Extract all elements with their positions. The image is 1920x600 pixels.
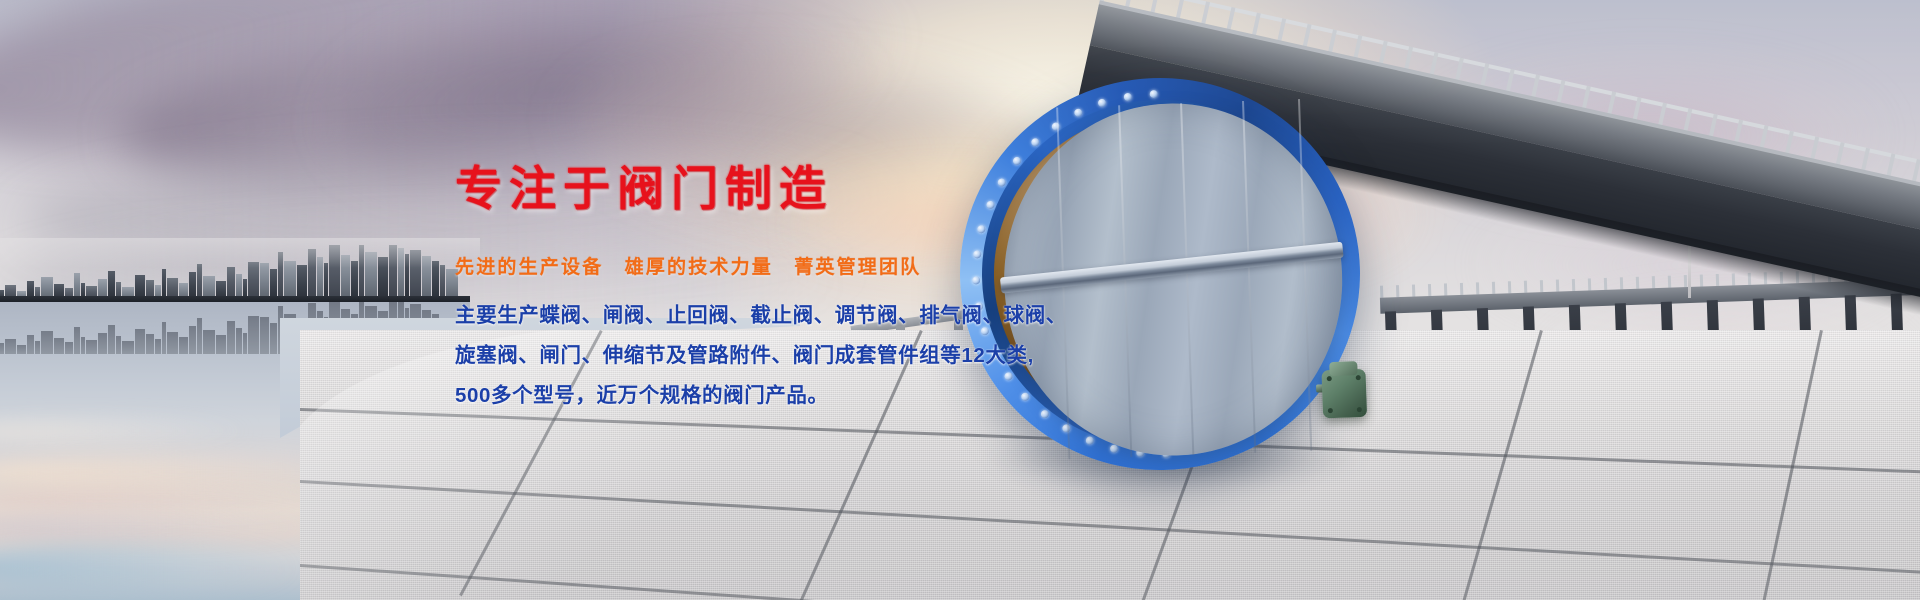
skyline-building — [329, 245, 340, 300]
flange-bolt-hole — [1074, 109, 1082, 117]
skyline-building — [308, 249, 316, 300]
skyline-building — [324, 263, 328, 300]
skyline-building — [440, 265, 445, 300]
skyline-building — [197, 264, 202, 300]
valve-gearbox-actuator — [1315, 361, 1375, 427]
banner-description: 主要生产蝶阀、闸阀、止回阀、截止阀、调节阀、排气阀、球阀、旋塞阀、闸门、伸缩节及… — [455, 296, 1015, 416]
description-line: 500多个型号，近万个规格的阀门产品。 — [455, 376, 1015, 416]
skyline-building — [378, 257, 388, 300]
skyline-building — [405, 254, 409, 300]
skyline-building — [365, 252, 377, 300]
skyline-building — [317, 257, 323, 300]
skyline-building — [389, 245, 397, 300]
description-line: 旋塞阀、闸门、伸缩节及管路附件、阀门成套管件组等12大类, — [455, 336, 1015, 376]
flange-bolt-hole — [1085, 436, 1093, 444]
skyline-building — [432, 261, 439, 301]
flange-bolt-hole — [1021, 393, 1029, 401]
skyline-building — [359, 245, 364, 300]
skyline-building — [284, 261, 296, 301]
flange-bolt-hole — [1123, 93, 1131, 101]
hero-banner: 专注于阀门制造 先进的生产设备 雄厚的技术力量 菁英管理团队 主要生产蝶阀、闸阀… — [0, 0, 1920, 600]
skyline-building — [248, 262, 259, 300]
butterfly-valve-product — [953, 71, 1366, 477]
skyline-building — [351, 261, 358, 301]
flange-bolt-hole — [1031, 138, 1039, 146]
skyline-building — [278, 252, 283, 300]
skyline-building — [297, 265, 307, 300]
skyline-building — [398, 248, 404, 300]
skyline-building — [260, 263, 269, 300]
banner-subtitle: 先进的生产设备 雄厚的技术力量 菁英管理团队 — [455, 252, 1015, 279]
description-line: 主要生产蝶阀、闸阀、止回阀、截止阀、调节阀、排气阀、球阀、 — [455, 296, 1015, 336]
flange-bolt-hole — [1040, 410, 1048, 418]
shoreline — [0, 296, 470, 302]
city-skyline — [0, 245, 470, 300]
page-title: 专注于阀门制造 — [455, 160, 1015, 219]
banner-copy: 专注于阀门制造 先进的生产设备 雄厚的技术力量 菁英管理团队 主要生产蝶阀、闸阀… — [455, 160, 1015, 416]
skyline-building — [341, 255, 350, 300]
skyline-building — [410, 250, 421, 300]
skyline-building — [422, 256, 431, 300]
